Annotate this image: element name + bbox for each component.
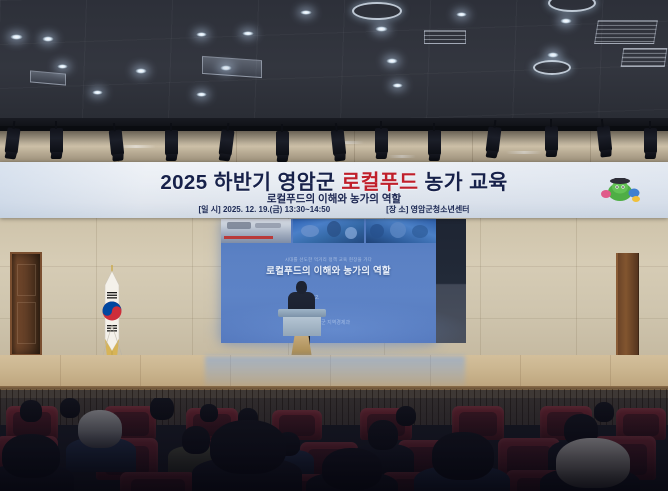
lectern-body bbox=[283, 316, 321, 336]
attendee-head bbox=[432, 432, 494, 480]
stage-spotlight-icon bbox=[50, 128, 63, 154]
auditorium-photo-scene: 시대를 선도한 먹거리 정책 교육 현장을 가다 로컬푸드의 이해와 농가의 역… bbox=[0, 0, 668, 491]
banner-meta-datetime: [일 시] 2025. 12. 19.(금) 13:30~14:50 bbox=[198, 204, 330, 215]
downlight-icon bbox=[375, 26, 388, 32]
attendee-head bbox=[150, 398, 174, 420]
slide-subline-2: 영암군 지역경제과 bbox=[261, 319, 401, 326]
south-korea-flag bbox=[92, 265, 132, 365]
stage-floor-reflection bbox=[205, 356, 465, 386]
stage-spotlight-icon bbox=[545, 126, 558, 152]
slide-photo-strip bbox=[221, 219, 436, 243]
projection-screen: 시대를 선도한 먹거리 정책 교육 현장을 가다 로컬푸드의 이해와 농가의 역… bbox=[221, 219, 436, 343]
presenter-head bbox=[296, 281, 307, 294]
attendee-head bbox=[396, 406, 416, 426]
downlight-icon bbox=[560, 18, 572, 24]
downlight-icon bbox=[456, 12, 467, 17]
attendee-head bbox=[200, 404, 218, 422]
attendee-head bbox=[78, 410, 122, 448]
attendee-head bbox=[210, 420, 286, 474]
stage-side-curtain bbox=[436, 219, 466, 343]
attendee-head bbox=[20, 400, 42, 422]
ac-vent-icon bbox=[594, 20, 658, 44]
downlight-icon bbox=[386, 58, 398, 64]
downlight-icon bbox=[135, 68, 147, 74]
stage-spotlight-icon bbox=[597, 125, 613, 152]
attendee-head bbox=[322, 448, 382, 490]
ac-vent-icon bbox=[621, 48, 668, 67]
ring-light-icon bbox=[533, 60, 571, 75]
downlight-icon bbox=[92, 90, 103, 95]
attendee-head bbox=[60, 398, 80, 418]
yeongam-mascot-icon bbox=[598, 174, 642, 204]
stage-spotlight-icon bbox=[644, 128, 657, 154]
attendee-head bbox=[2, 434, 60, 478]
banner-meta: [일 시] 2025. 12. 19.(금) 13:30~14:50 [장 소]… bbox=[0, 204, 668, 215]
stage-spotlight-icon bbox=[276, 131, 289, 157]
downlight-icon bbox=[547, 52, 559, 58]
stage-spotlight-icon bbox=[109, 129, 125, 156]
downlight-icon bbox=[242, 31, 254, 36]
stage-left-door[interactable] bbox=[10, 252, 42, 356]
downlight-icon bbox=[57, 64, 68, 69]
downlight-icon bbox=[42, 36, 54, 42]
slide-photo-meeting bbox=[293, 219, 363, 243]
downlight-icon bbox=[300, 10, 312, 15]
attendee-head bbox=[368, 420, 398, 450]
attendee-head bbox=[182, 426, 210, 454]
ring-light-icon bbox=[352, 2, 402, 20]
event-banner: 2025 하반기 영암군 로컬푸드 농가 교육 로컬푸드의 이해와 농가의 역할… bbox=[0, 162, 668, 218]
stage-spotlight-icon bbox=[165, 130, 178, 156]
downlight-icon bbox=[392, 83, 403, 88]
lectern-top bbox=[278, 309, 326, 317]
downlight-icon bbox=[196, 92, 207, 97]
stage-spotlight-icon bbox=[428, 130, 441, 156]
slide-photo-audience bbox=[366, 219, 436, 243]
downlight-icon bbox=[196, 32, 207, 37]
stage-spotlight-icon bbox=[375, 128, 388, 154]
seat[interactable] bbox=[120, 472, 196, 491]
slide-title: 로컬푸드의 이해와 농가의 역할 bbox=[221, 263, 436, 277]
audience-area bbox=[0, 398, 668, 491]
banner-meta-location: [장 소] 영암군청소년센터 bbox=[386, 204, 469, 215]
stage-right-door[interactable] bbox=[616, 253, 639, 356]
stage-spotlight-icon bbox=[331, 129, 347, 156]
slide-photo-newspaper bbox=[221, 219, 291, 243]
attendee-head bbox=[556, 438, 630, 488]
downlight-icon bbox=[10, 34, 23, 40]
attendee-head bbox=[594, 402, 614, 422]
ac-vent-icon bbox=[424, 30, 466, 44]
